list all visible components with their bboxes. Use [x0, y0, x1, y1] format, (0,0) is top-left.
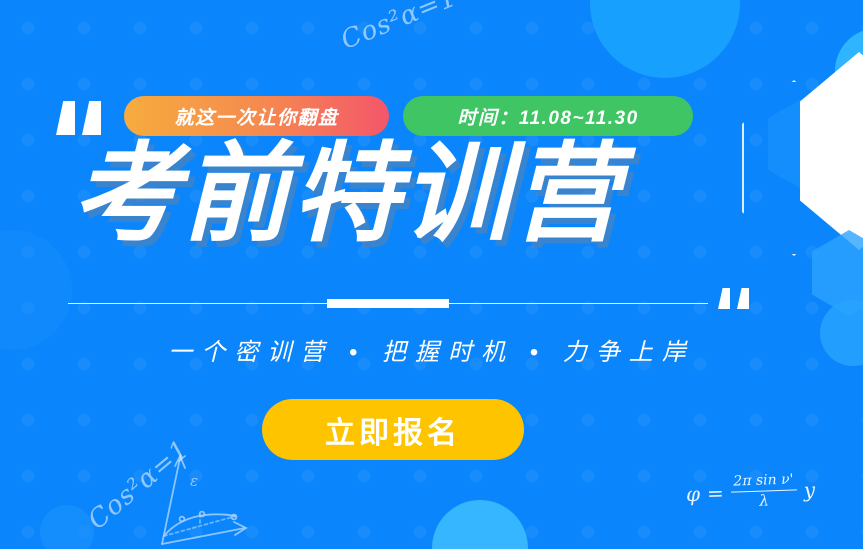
- title-divider: [68, 299, 708, 308]
- formula-trailing: y: [803, 478, 815, 502]
- handwriting-formula-top: Cos²α=1: [337, 0, 462, 56]
- page-subtitle: 一个密训营 • 把握时机 • 力争上岸: [0, 332, 863, 367]
- quote-close-icon: [718, 288, 749, 309]
- divider-center-bar: [327, 299, 449, 308]
- axis-sketch-icon: ε: [120, 452, 250, 547]
- formula-denominator: λ: [759, 494, 769, 510]
- badge-date: 时间：11.08~11.30: [403, 96, 693, 136]
- handwriting-formula-bottom-right: φ = 2π sin ν' λ y: [685, 472, 815, 513]
- formula-numerator: 2π sin ν': [730, 472, 797, 489]
- promo-banner: Cos²α=1 Cos²α=1 ε φ = 2π sin ν' λ y: [0, 0, 863, 549]
- divider-line-left: [68, 303, 327, 305]
- formula-fraction: 2π sin ν' λ: [730, 472, 797, 510]
- background-circle-bottom-left: [40, 505, 94, 549]
- sketch-epsilon-label: ε: [190, 472, 198, 490]
- formula-equals: =: [707, 481, 725, 506]
- formula-phi: φ: [686, 482, 701, 506]
- badge-row: 就这一次让你翻盘 时间：11.08~11.30: [124, 96, 693, 136]
- background-shape-bottom: [432, 500, 528, 549]
- badge-promo: 就这一次让你翻盘: [124, 96, 389, 136]
- background-circle-top: [590, 0, 740, 78]
- quote-open-icon: [56, 101, 101, 135]
- signup-button[interactable]: 立即报名: [262, 399, 524, 460]
- hexagon-ghost-lower-icon: [812, 230, 863, 316]
- page-title: 考前特训营: [72, 140, 622, 248]
- divider-line-right: [449, 303, 708, 305]
